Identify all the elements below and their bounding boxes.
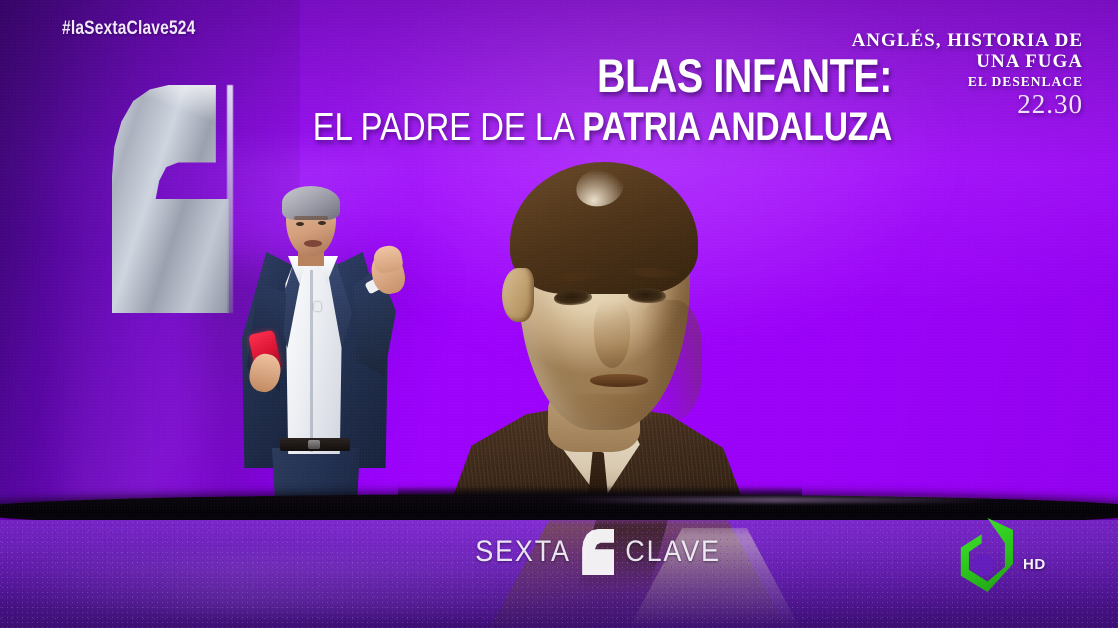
watermark-word-left: SEXTA	[475, 535, 571, 569]
program-watermark: SEXTA CLAVE	[470, 529, 726, 575]
topic-title-block: BLAS INFANTE: EL PADRE DE LA PATRIA ANDA…	[0, 52, 900, 150]
presenter-eyebrows	[294, 216, 328, 220]
title-secondary-light: EL PADRE DE LA	[313, 106, 582, 149]
presenter-mouth	[304, 240, 322, 247]
title-line-primary: BLAS INFANTE:	[143, 52, 892, 99]
portrait-chin-shadow	[566, 394, 670, 428]
watermark-six-shape	[582, 529, 614, 575]
title-secondary-strong: PATRIA ANDALUZA	[582, 105, 892, 149]
portrait-mouth	[590, 374, 648, 387]
hashtag-overlay: #laSextaClave524	[62, 18, 195, 40]
lasexta-six-counter	[972, 554, 994, 576]
presenter-eye-left	[296, 222, 304, 226]
lasexta-six-icon	[955, 518, 1013, 592]
stage-band-highlight	[560, 497, 990, 503]
portrait-nose	[594, 300, 630, 368]
channel-bug: HD	[955, 518, 1046, 592]
program-promo-block: ANGLÉS, HISTORIA DE UNA FUGA EL DESENLAC…	[852, 30, 1083, 120]
historical-portrait-image	[398, 150, 802, 500]
promo-airtime: 22.30	[852, 90, 1083, 120]
promo-title-line2: UNA FUGA	[852, 51, 1083, 72]
promo-subtitle: EL DESENLACE	[852, 74, 1083, 90]
watermark-six-icon	[582, 529, 614, 575]
watermark-word-right: CLAVE	[625, 535, 721, 569]
broadcast-frame: #laSextaClave524 BLAS INFANTE: EL PADRE …	[0, 0, 1118, 628]
presenter-belt-buckle	[308, 440, 320, 449]
presenter-lapel-microphone	[314, 302, 321, 311]
title-line-secondary: EL PADRE DE LA PATRIA ANDALUZA	[143, 105, 892, 150]
promo-title-line1: ANGLÉS, HISTORIA DE	[852, 30, 1083, 51]
presenter-shirt-placket	[310, 270, 313, 452]
presenter-eye-right	[318, 221, 326, 225]
portrait-ear	[502, 268, 534, 322]
hd-badge: HD	[1023, 556, 1046, 573]
presenter-hair	[282, 186, 340, 220]
